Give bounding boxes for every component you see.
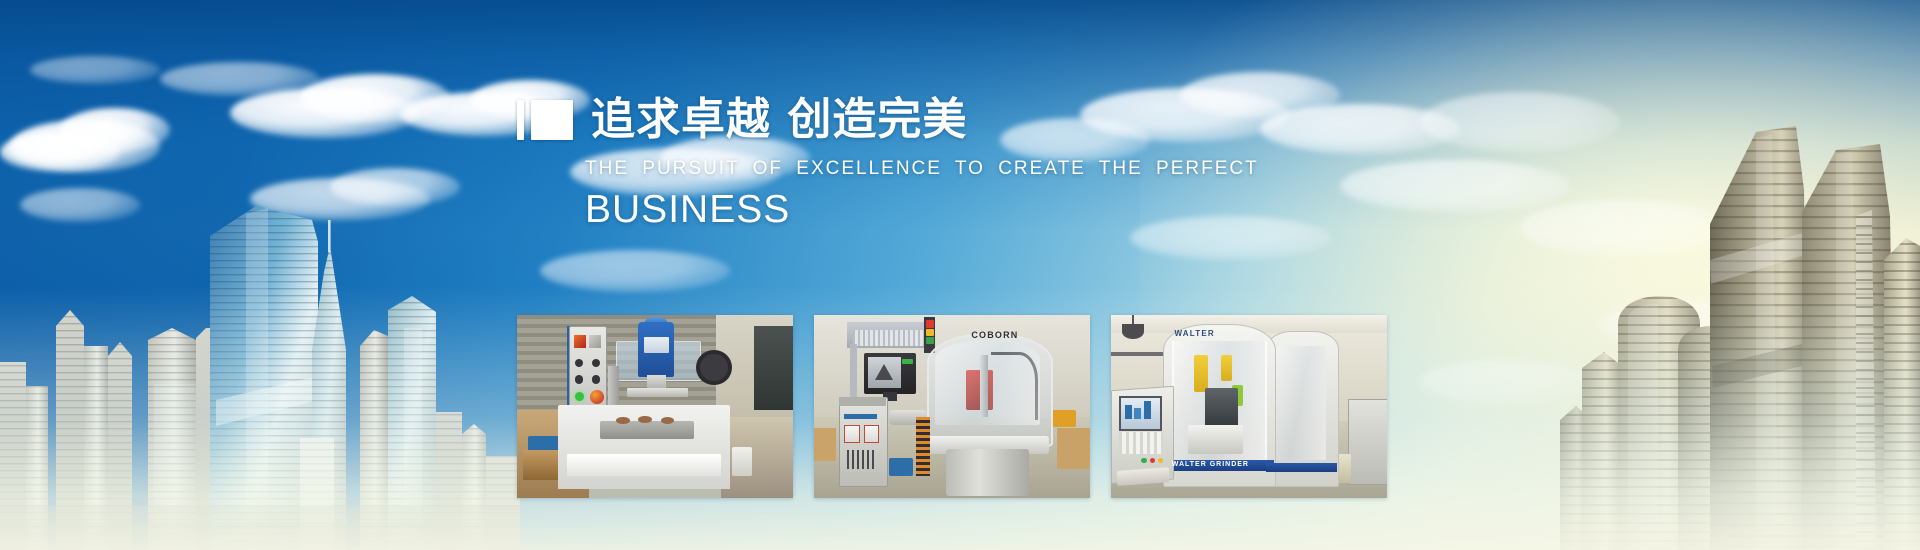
headline-row: 追求卓越 创造完美 bbox=[517, 96, 1277, 144]
photo-caption-walter-lower: WALTER GRINDER bbox=[1172, 461, 1249, 468]
brand-logo-mark bbox=[517, 100, 573, 140]
page-title: 追求卓越 创造完美 bbox=[591, 96, 967, 144]
photo-caption-walter: WALTER bbox=[1174, 329, 1214, 338]
photo-caption-coborn: COBORN bbox=[971, 330, 1018, 340]
hero-banner: 追求卓越 创造完美 THE PURSUIT OF EXCELLENCE TO C… bbox=[0, 0, 1920, 550]
logo-square-icon bbox=[531, 100, 573, 140]
banner-copy-block: 追求卓越 创造完美 THE PURSUIT OF EXCELLENCE TO C… bbox=[517, 96, 1277, 232]
photo-coborn-grinding-machine[interactable]: COBORN bbox=[814, 315, 1090, 498]
photo-walter-tool-grinder[interactable]: WALTER WALTER GRINDER bbox=[1111, 315, 1387, 498]
business-word: BUSINESS bbox=[585, 188, 1277, 232]
product-photo-strip: COBORN bbox=[517, 315, 1387, 498]
photo-edm-drilling-machine[interactable] bbox=[517, 315, 793, 498]
subtitle-english: THE PURSUIT OF EXCELLENCE TO CREATE THE … bbox=[585, 158, 1277, 180]
logo-bar-icon bbox=[517, 100, 524, 140]
